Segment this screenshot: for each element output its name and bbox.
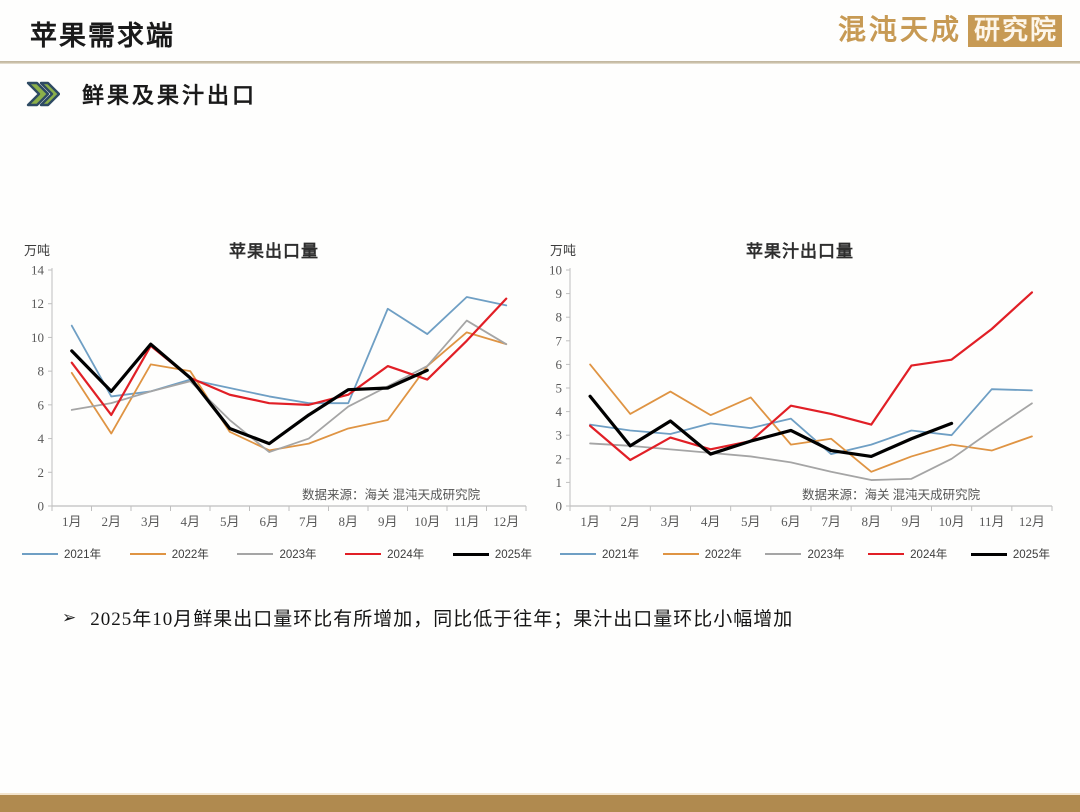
legend-label: 2024年: [910, 546, 947, 562]
header-divider: [0, 61, 1080, 64]
legend-item-2021年[interactable]: 2021年: [22, 546, 101, 562]
legend-label: 2021年: [602, 546, 639, 562]
legend-label: 2025年: [495, 546, 532, 562]
legend-label: 2025年: [1013, 546, 1050, 562]
series-line-2023年: [72, 321, 507, 452]
section-title: 鲜果及果汁出口: [82, 78, 257, 110]
x-axis-tick-label: 11月: [979, 514, 1005, 529]
y-axis-tick-label: 7: [556, 333, 563, 348]
x-axis-tick-label: 7月: [821, 514, 841, 529]
y-axis-tick-label: 5: [556, 381, 563, 396]
x-axis-tick-label: 5月: [741, 514, 761, 529]
logo-box-text: 研究院: [968, 15, 1062, 47]
y-axis-tick-label: 9: [556, 286, 563, 301]
x-axis-tick-label: 4月: [701, 514, 721, 529]
y-axis-tick-label: 2: [556, 451, 563, 466]
y-axis-tick-label: 8: [556, 310, 563, 325]
legend-label: 2022年: [172, 546, 209, 562]
section-heading: 鲜果及果汁出口: [26, 78, 257, 110]
legend-label: 2021年: [64, 546, 101, 562]
legend-swatch-2024年: [868, 553, 904, 555]
legend-item-2024年[interactable]: 2024年: [345, 546, 424, 562]
footer-bar: [0, 793, 1080, 812]
x-axis-tick-label: 3月: [661, 514, 681, 529]
series-line-2024年: [72, 299, 507, 415]
chart-legend-left: 2021年2022年2023年2024年2025年: [22, 546, 538, 562]
legend-swatch-2022年: [663, 553, 699, 555]
x-axis-tick-label: 5月: [220, 514, 240, 529]
legend-item-2021年[interactable]: 2021年: [560, 546, 639, 562]
y-axis-tick-label: 8: [38, 364, 45, 379]
legend-swatch-2023年: [765, 553, 801, 555]
x-axis-tick-label: 4月: [180, 514, 200, 529]
x-axis-tick-label: 8月: [861, 514, 881, 529]
bullet-arrow-icon: ➢: [62, 608, 76, 628]
slide-canvas: 苹果需求端 混沌天成 研究院 鲜果及果汁出口 万吨 苹果出口量 02468101…: [0, 0, 1080, 810]
x-axis-tick-label: 6月: [781, 514, 801, 529]
x-axis-tick-label: 12月: [493, 514, 519, 529]
legend-item-2023年[interactable]: 2023年: [237, 546, 316, 562]
logo-seal-text: 混沌天成: [838, 17, 962, 45]
chevron-right-icon: [26, 81, 60, 107]
x-axis-tick-label: 1月: [62, 514, 82, 529]
chart-source-note: 数据来源：海关 混沌天成研究院: [802, 484, 980, 503]
y-axis-tick-label: 4: [556, 404, 563, 419]
chart-source-note: 数据来源：海关 混沌天成研究院: [302, 484, 480, 503]
y-axis-tick-label: 2: [38, 465, 45, 480]
series-line-2024年: [590, 292, 1032, 460]
x-axis-tick-label: 2月: [620, 514, 640, 529]
legend-label: 2022年: [705, 546, 742, 562]
y-axis-tick-label: 10: [31, 330, 44, 345]
y-axis-tick-label: 10: [549, 263, 562, 278]
legend-item-2025年[interactable]: 2025年: [453, 546, 532, 562]
legend-swatch-2025年: [971, 553, 1007, 556]
y-axis-tick-label: 4: [38, 431, 45, 446]
y-axis-tick-label: 6: [38, 397, 45, 412]
y-axis-tick-label: 6: [556, 357, 563, 372]
x-axis-tick-label: 1月: [580, 514, 600, 529]
x-axis-tick-label: 10月: [414, 514, 440, 529]
x-axis-tick-label: 9月: [378, 514, 398, 529]
legend-swatch-2024年: [345, 553, 381, 555]
chart-plot-area: 024681012141月2月3月4月5月6月7月8月9月10月11月12月: [14, 258, 534, 548]
x-axis-tick-label: 6月: [259, 514, 279, 529]
legend-item-2023年[interactable]: 2023年: [765, 546, 844, 562]
chart-apple-export-volume: 万吨 苹果出口量 024681012141月2月3月4月5月6月7月8月9月10…: [14, 232, 534, 572]
chart-apple-juice-export-volume: 万吨 苹果汁出口量 0123456789101月2月3月4月5月6月7月8月9月…: [540, 232, 1060, 572]
legend-item-2025年[interactable]: 2025年: [971, 546, 1050, 562]
legend-swatch-2023年: [237, 553, 273, 555]
legend-swatch-2022年: [130, 553, 166, 555]
legend-swatch-2021年: [560, 553, 596, 555]
x-axis-tick-label: 3月: [141, 514, 161, 529]
legend-swatch-2025年: [453, 553, 489, 556]
legend-item-2022年[interactable]: 2022年: [663, 546, 742, 562]
x-axis-tick-label: 8月: [338, 514, 358, 529]
x-axis-tick-label: 10月: [939, 514, 965, 529]
y-axis-tick-label: 3: [556, 428, 563, 443]
x-axis-tick-label: 7月: [299, 514, 319, 529]
page-title: 苹果需求端: [30, 14, 175, 53]
y-axis-tick-label: 0: [38, 499, 45, 514]
legend-label: 2023年: [279, 546, 316, 562]
x-axis-tick-label: 2月: [101, 514, 121, 529]
x-axis-tick-label: 11月: [454, 514, 480, 529]
legend-label: 2024年: [387, 546, 424, 562]
legend-label: 2023年: [807, 546, 844, 562]
y-axis-tick-label: 1: [556, 475, 563, 490]
legend-item-2024年[interactable]: 2024年: [868, 546, 947, 562]
slide-header: 苹果需求端 混沌天成 研究院: [0, 0, 1080, 62]
summary-bullet-text: 2025年10月鲜果出口量环比有所增加，同比低于往年；果汁出口量环比小幅增加: [90, 608, 793, 633]
legend-item-2022年[interactable]: 2022年: [130, 546, 209, 562]
chart-legend-right: 2021年2022年2023年2024年2025年: [560, 546, 1056, 562]
y-axis-tick-label: 12: [31, 296, 44, 311]
y-axis-tick-label: 0: [556, 499, 563, 514]
chart-plot-area: 0123456789101月2月3月4月5月6月7月8月9月10月11月12月: [540, 258, 1060, 548]
x-axis-tick-label: 12月: [1019, 514, 1045, 529]
x-axis-tick-label: 9月: [902, 514, 922, 529]
summary-bullet: ➢ 2025年10月鲜果出口量环比有所增加，同比低于往年；果汁出口量环比小幅增加: [62, 608, 793, 633]
y-axis-tick-label: 14: [31, 263, 45, 278]
brand-logo: 混沌天成 研究院: [838, 10, 1062, 52]
legend-swatch-2021年: [22, 553, 58, 555]
